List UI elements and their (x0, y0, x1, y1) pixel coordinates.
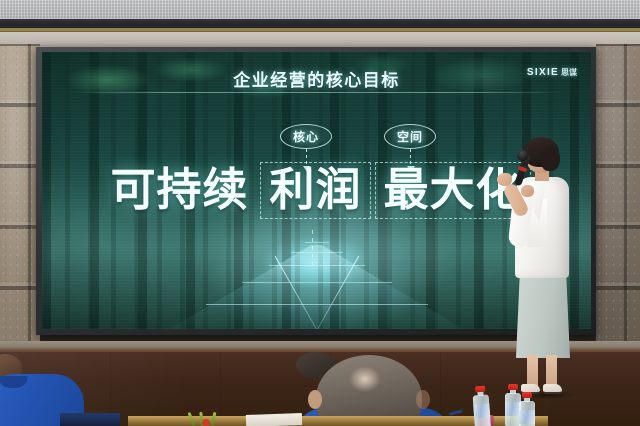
ceiling-shadow-band (0, 19, 640, 28)
flower-leaf (211, 412, 217, 426)
wall-panel-left (0, 44, 40, 344)
screenshot-root: 企业经营的核心目标 SIXIE 思谋 核心 空间 可持续 利润 最大化 (0, 0, 640, 426)
bubble-core: 核心 (280, 124, 332, 149)
bottle-label (519, 410, 535, 424)
bottle-label (473, 403, 490, 418)
paper-document (246, 413, 302, 426)
ceiling-panel (0, 0, 640, 19)
wall-panel-right (596, 44, 640, 344)
presenter-hair-back (541, 147, 560, 171)
brand-logo: SIXIE 思谋 (527, 67, 577, 78)
flower-leaf (187, 412, 195, 426)
wall-texture-right (596, 44, 640, 344)
bottle-cap (475, 386, 485, 393)
presenter-leg (546, 355, 557, 386)
audience-ear-left (308, 390, 322, 409)
slide-title: 企业经营的核心目标 (42, 66, 591, 91)
presenter-skirt (516, 274, 570, 358)
presenter-shoe (543, 384, 562, 394)
flower-bud (202, 419, 210, 426)
headline-word-1: 可持续 (102, 163, 256, 218)
wall-texture-left (0, 44, 40, 344)
headline-word-2: 利润 (260, 162, 370, 219)
headline-connector-line (312, 230, 313, 270)
flower-arrangement (188, 410, 232, 426)
brand-logo-latin: SIXIE (527, 67, 559, 78)
brand-logo-chinese: 思谋 (561, 67, 577, 78)
presenter (497, 141, 595, 397)
bottle-cap (508, 384, 518, 390)
dark-object-left (60, 413, 120, 426)
presenter-hand-left (497, 173, 512, 186)
bubble-space: 空间 (384, 124, 436, 149)
presenter-leg (527, 355, 538, 386)
slide-title-divider (69, 92, 563, 93)
bottle-cap (522, 392, 532, 398)
audience-ear-right (416, 390, 430, 409)
presenter-hand-right (521, 185, 534, 197)
